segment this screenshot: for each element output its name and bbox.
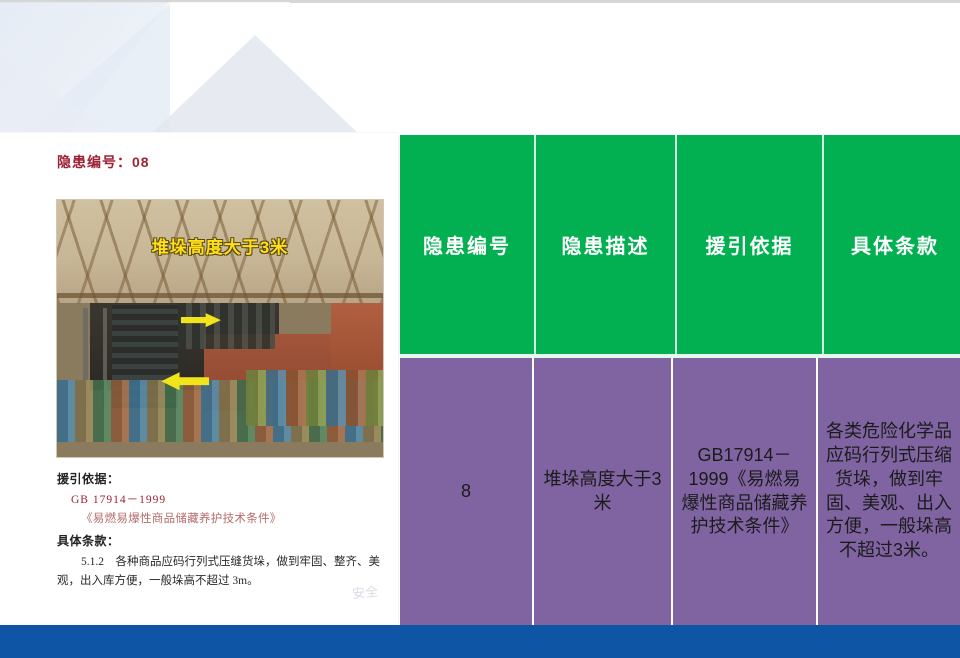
hazard-number-heading: 隐患编号：08	[57, 152, 150, 172]
table-row: 8 堆垛高度大于3米 GB17914－1999《易燃易爆性商品储藏养护技术条件》…	[400, 358, 960, 625]
cell-clause: 各类危险化学品应码行列式压缩货垛，做到牢固、美观、出入方便，一般垛高不超过3米。	[818, 358, 960, 625]
citation-text-block: 援引依据： GB 17914－1999 《易燃易爆性商品储藏养护技术条件》 具体…	[57, 470, 387, 591]
watermark-text: 安全	[351, 581, 379, 603]
photo-caption-overlay: 堆垛高度大于3米	[57, 233, 383, 258]
top-decorative-band	[0, 0, 960, 136]
photo-drum-row-right	[246, 370, 383, 427]
citation-heading: 援引依据：	[57, 470, 387, 487]
hazard-photo: 堆垛高度大于3米	[57, 200, 383, 457]
column-header-citation-basis: 援引依据	[677, 135, 824, 354]
column-header-hazard-number: 隐患编号	[400, 135, 536, 354]
photo-beam	[57, 293, 383, 298]
cell-hazard-description: 堆垛高度大于3米	[534, 358, 673, 625]
table-header-row: 隐患编号 隐患描述 援引依据 具体条款	[400, 135, 960, 354]
decorative-triangle-center	[150, 35, 360, 135]
citation-standard-code: GB 17914－1999	[71, 491, 387, 507]
clause-heading: 具体条款：	[57, 532, 387, 549]
clause-body-text: 5.1.2 各种商品应码行列式压缝货垛，做到牢固、整齐、美观，出入库方便，一般垛…	[57, 553, 387, 591]
hazard-table: 隐患编号 隐患描述 援引依据 具体条款 8 堆垛高度大于3米 GB17914－1…	[400, 135, 960, 625]
bottom-accent-bar	[0, 625, 960, 658]
decorative-triangle-small	[0, 46, 115, 136]
cell-hazard-number: 8	[400, 358, 534, 625]
column-header-clause: 具体条款	[824, 135, 960, 354]
photo-upper-stack	[178, 303, 276, 349]
slide-canvas: 隐患编号：08 堆垛高度大于3米 援引依据： GB 17914－1999 《易燃…	[0, 0, 960, 658]
citation-standard-title: 《易燃易爆性商品储藏养护技术条件》	[81, 510, 387, 526]
column-header-hazard-description: 隐患描述	[536, 135, 677, 354]
cell-citation-basis: GB17914－1999《易燃易爆性商品储藏养护技术条件》	[673, 358, 818, 625]
